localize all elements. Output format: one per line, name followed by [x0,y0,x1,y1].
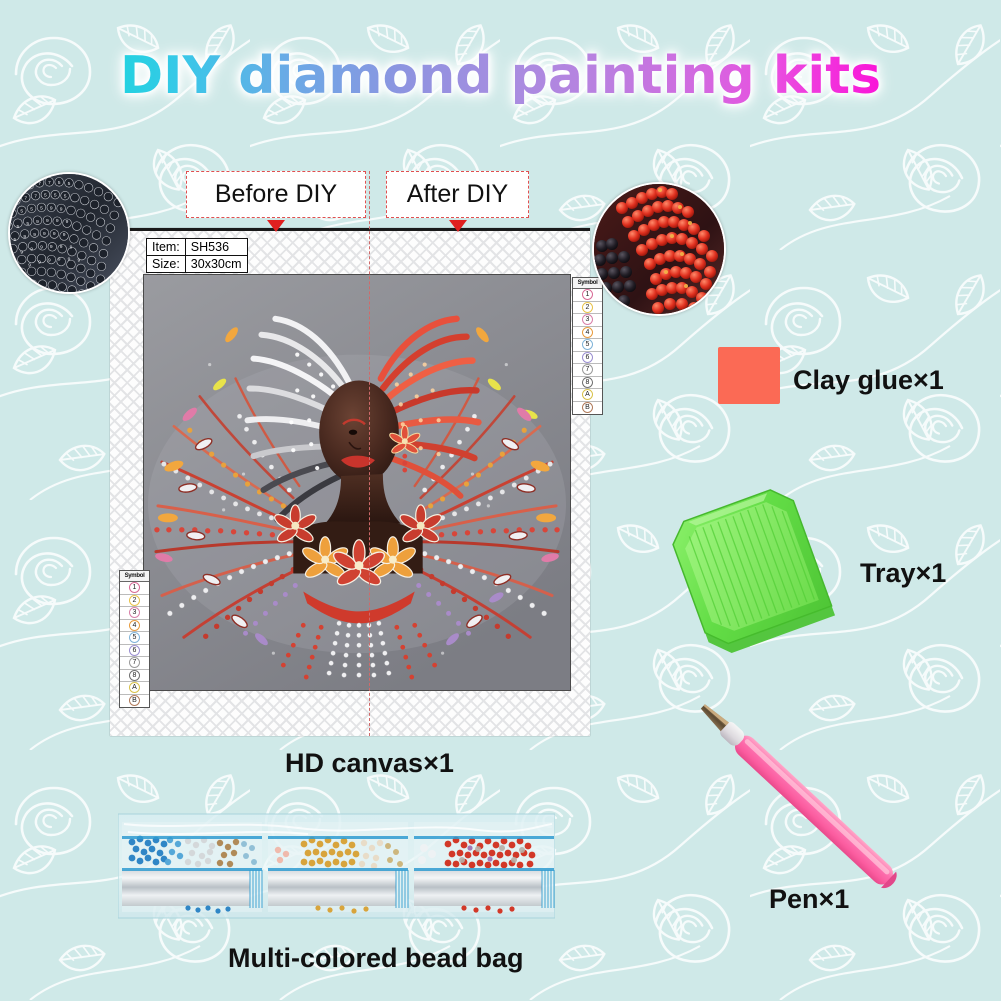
symbol-badge: 6 [582,352,593,363]
symbol-badge: A [582,389,593,400]
symbol-badge: 4 [582,327,593,338]
symbol-badge: 1 [129,582,140,593]
pointer-arrow-after [449,220,467,232]
canvas-top-rule [110,228,590,231]
bead-bag-label: Multi-colored bead bag [228,943,524,974]
table-row: Size: 30x30cm [147,256,248,273]
svg-text:9: 9 [36,219,39,225]
symbol-legend-left: Symbol 1 2 3 4 5 6 7 8 A B [119,570,150,708]
table-row: Item: SH536 [147,239,248,256]
symbol-row: 8 [120,670,149,683]
svg-text:9: 9 [33,232,36,238]
svg-text:5: 5 [68,181,71,187]
symbol-legend-header: Symbol [120,571,149,582]
svg-text:9: 9 [60,244,63,250]
symbol-row: 7 [120,657,149,670]
symbol-row: B [120,695,149,708]
bead-bags-image [118,808,555,926]
symbol-row: 1 [573,289,602,302]
svg-text:9: 9 [30,247,33,253]
symbol-badge: B [129,695,140,706]
svg-text:9: 9 [50,205,53,211]
label-after-diy-text: After DIY [407,180,508,209]
svg-text:7: 7 [24,196,27,202]
label-before-diy-text: Before DIY [215,180,337,209]
symbol-badge: 2 [582,302,593,313]
svg-text:5: 5 [40,205,43,211]
tray-label: Tray×1 [860,558,946,589]
svg-text:9: 9 [28,262,31,268]
symbol-badge: 5 [129,632,140,643]
symbol-row: 8 [573,377,602,390]
label-before-diy: Before DIY [186,171,366,218]
svg-text:5: 5 [26,221,29,227]
symbol-row: 6 [120,645,149,658]
symbol-badge: 5 [582,339,593,350]
symbol-badge: 4 [129,620,140,631]
symbol-row: 5 [120,632,149,645]
svg-text:9: 9 [58,257,61,263]
zoom-callout-after [592,182,726,316]
symbol-badge: 8 [582,377,593,388]
symbol-badge: 1 [582,289,593,300]
symbol-row: 2 [573,302,602,315]
pen-image [656,700,956,908]
svg-text:9: 9 [50,244,53,250]
tray-image [664,478,869,654]
page-title: DIY diamond painting kits [0,46,1001,106]
svg-text:9: 9 [20,250,23,256]
svg-text:5: 5 [64,194,67,200]
symbol-row: 4 [120,620,149,633]
svg-text:5: 5 [20,208,23,214]
canvas-spec-table: Item: SH536 Size: 30x30cm [146,238,248,273]
svg-text:7: 7 [38,181,41,187]
hd-canvas-label: HD canvas×1 [285,748,454,779]
clay-glue-label: Clay glue×1 [793,365,944,396]
svg-text:9: 9 [46,218,49,224]
symbol-row: A [573,389,602,402]
spec-value-size: 30x30cm [185,256,247,273]
spec-value-item: SH536 [185,239,247,256]
page-title-text: DIY diamond painting kits [120,46,881,106]
svg-text:5: 5 [54,193,57,199]
svg-text:5: 5 [30,206,33,212]
svg-text:5: 5 [16,224,19,230]
spec-key-item: Item: [147,239,186,256]
symbol-badge: 3 [129,607,140,618]
svg-text:9: 9 [23,234,26,240]
svg-text:9: 9 [38,259,41,265]
svg-text:9: 9 [43,231,46,237]
pointer-arrow-before [267,220,285,232]
svg-text:9: 9 [68,257,71,263]
symbol-legend-right: Symbol 1 2 3 4 5 6 7 8 A B [572,277,603,415]
symbol-badge: A [129,682,140,693]
canvas-artwork [143,274,571,691]
zoom-callout-before: 777 755 577 555 555 599 559 999 599 999 … [8,172,130,294]
svg-text:9: 9 [77,258,80,264]
symbol-badge: 3 [582,314,593,325]
svg-text:7: 7 [48,180,51,186]
symbol-row: 1 [120,582,149,595]
hd-canvas-panel: Item: SH536 Size: 30x30cm [110,228,590,736]
before-after-divider [369,171,370,736]
symbol-row: 3 [573,314,602,327]
svg-text:9: 9 [53,231,56,237]
label-after-diy: After DIY [386,171,529,218]
svg-text:9: 9 [40,245,43,251]
symbol-row: A [120,682,149,695]
symbol-badge: 7 [582,364,593,375]
symbol-row: 3 [120,607,149,620]
symbol-badge: 8 [129,670,140,681]
symbol-row: 6 [573,352,602,365]
clay-glue-square [718,347,780,404]
svg-text:9: 9 [70,245,73,251]
pen-label: Pen×1 [769,884,849,915]
svg-text:5: 5 [58,180,61,186]
svg-text:5: 5 [44,193,47,199]
svg-text:9: 9 [63,232,66,238]
symbol-badge: B [582,402,593,413]
symbol-row: B [573,402,602,415]
symbol-badge: 6 [129,645,140,656]
symbol-badge: 2 [129,595,140,606]
svg-text:9: 9 [48,258,51,264]
symbol-badge: 7 [129,657,140,668]
symbol-legend-header: Symbol [573,278,602,289]
symbol-row: 7 [573,364,602,377]
svg-text:9: 9 [66,219,69,225]
svg-text:9: 9 [60,206,63,212]
svg-text:9: 9 [56,218,59,224]
svg-text:5: 5 [14,237,17,243]
symbol-row: 5 [573,339,602,352]
svg-text:5: 5 [11,211,14,217]
symbol-row: 2 [120,595,149,608]
svg-text:7: 7 [34,194,37,200]
symbol-row: 4 [573,327,602,340]
spec-key-size: Size: [147,256,186,273]
